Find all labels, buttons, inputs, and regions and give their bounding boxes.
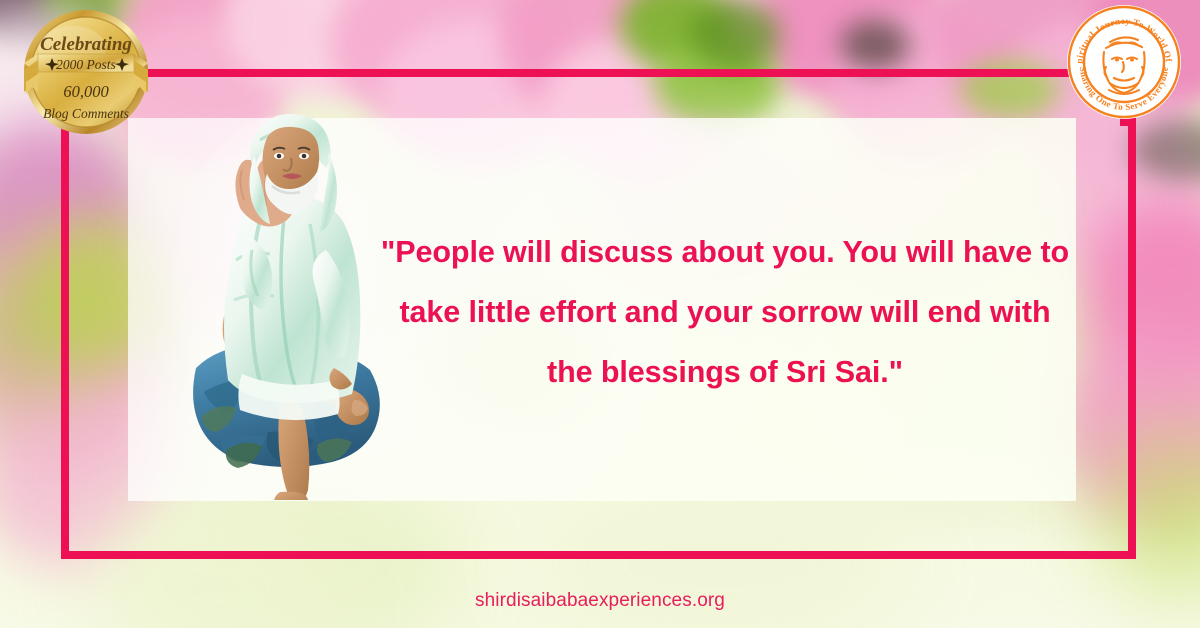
badge-ribbon-line: 2000 Posts xyxy=(56,57,116,72)
quote-text: "People will discuss about you. You will… xyxy=(375,222,1075,402)
quote-line-1: "People will discuss about you. You will… xyxy=(375,222,1075,282)
quote-line-2: take little effort and your sorrow will … xyxy=(375,282,1075,342)
badge-count-label: Blog Comments xyxy=(43,106,129,121)
quote-line-3: the blessings of Sri Sai." xyxy=(375,342,1075,402)
badge-count: 60,000 xyxy=(63,82,109,101)
footer-url[interactable]: shirdisaibabaexperiences.org xyxy=(0,590,1200,612)
badge-heading: Celebrating xyxy=(40,34,132,55)
quote-card: "People will discuss about you. You will… xyxy=(0,0,1200,628)
site-logo-badge[interactable]: A Spiritual Journey To World Of Sai Shar… xyxy=(1066,4,1182,126)
sai-baba-figure xyxy=(168,100,398,500)
celebrating-badge: Celebrating 2000 Posts 60,000 Blog Comme… xyxy=(22,8,150,138)
